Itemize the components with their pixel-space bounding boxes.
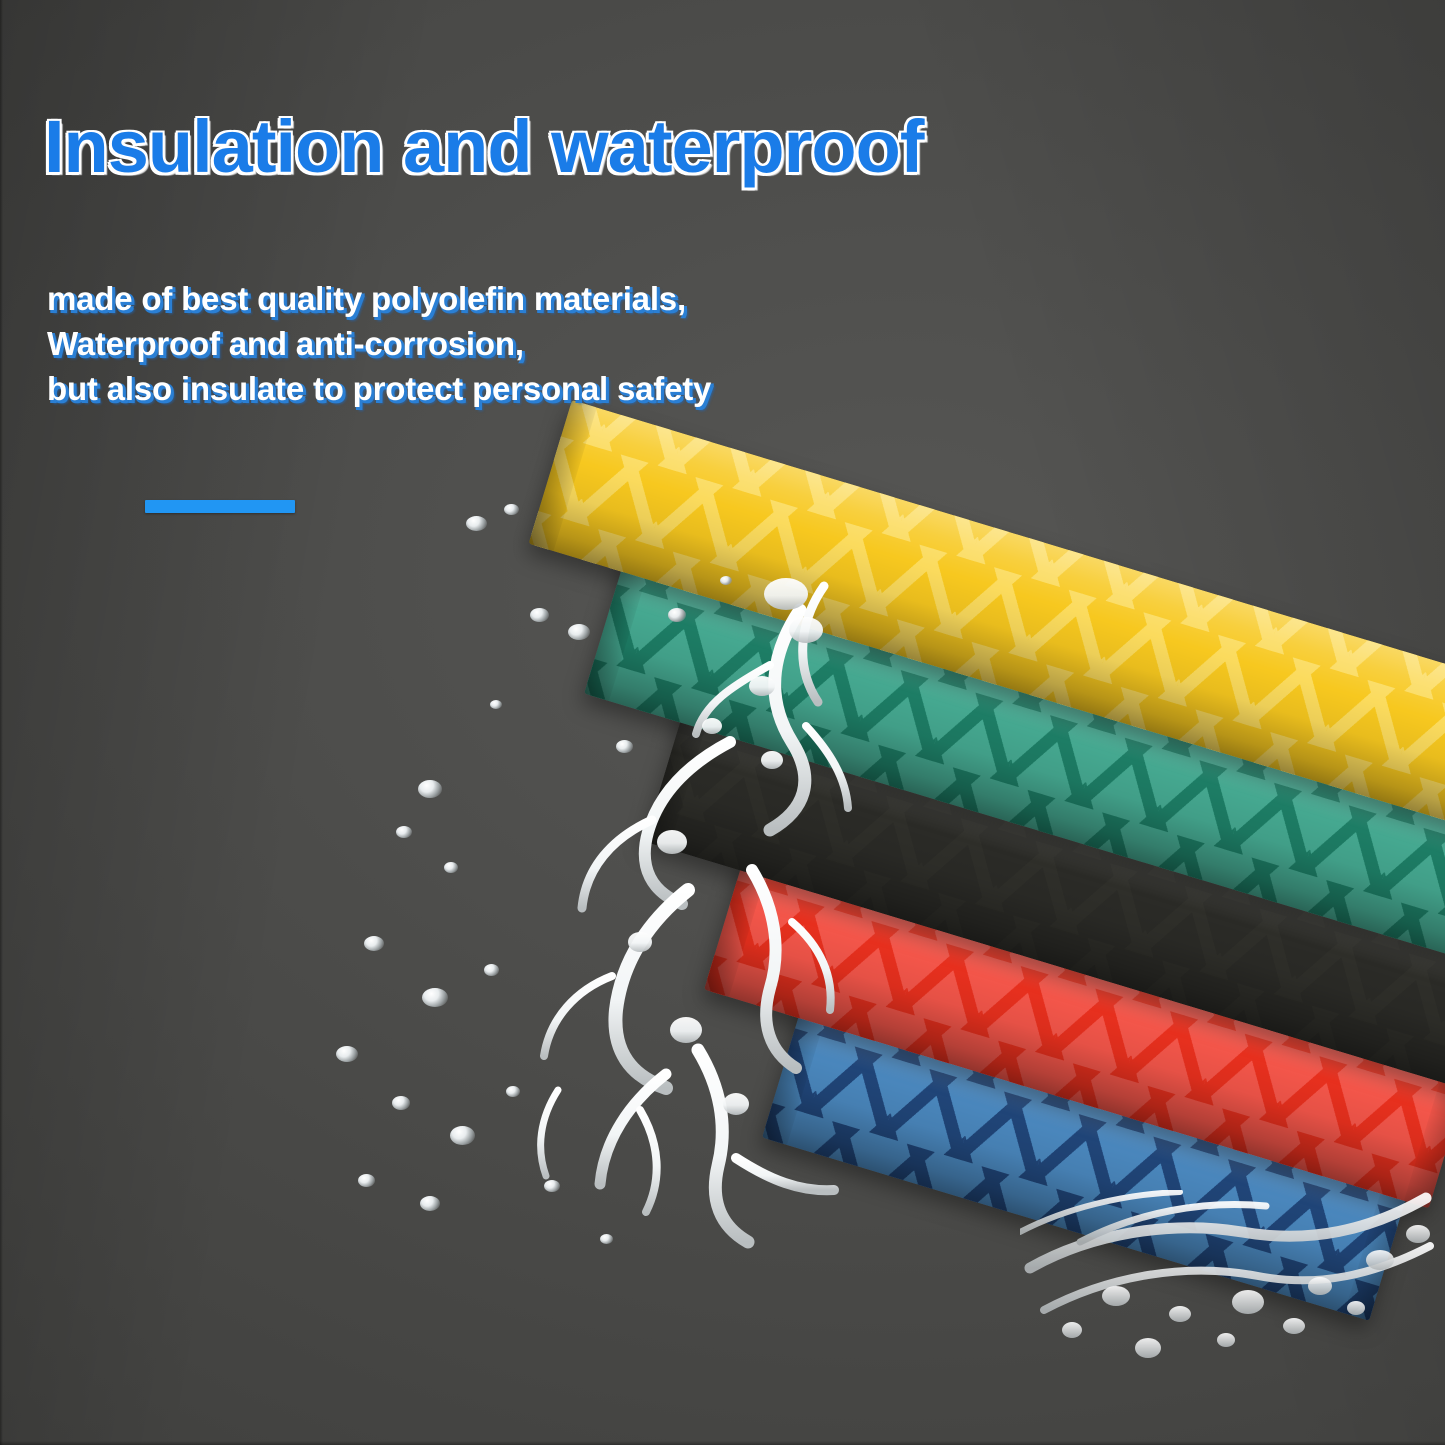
water-droplet xyxy=(444,862,458,873)
description-line: but also insulate to protect personal sa… xyxy=(47,366,711,411)
water-droplet xyxy=(392,1096,410,1110)
water-droplet xyxy=(422,988,448,1007)
description-block: made of best quality polyolefin material… xyxy=(47,276,711,411)
water-droplet xyxy=(420,1196,440,1211)
heat-shrink-tube-bundle xyxy=(500,400,1445,1300)
water-droplet xyxy=(450,1126,475,1145)
water-droplet xyxy=(396,826,412,838)
water-droplet xyxy=(466,516,487,531)
product-banner: Insulation and waterproof made of best q… xyxy=(0,0,1445,1445)
accent-divider-bar xyxy=(145,500,295,513)
water-droplet xyxy=(364,936,384,951)
water-droplet xyxy=(484,964,499,976)
water-droplet xyxy=(358,1174,375,1187)
description-line: Waterproof and anti-corrosion, xyxy=(47,321,711,366)
water-droplet xyxy=(418,780,442,798)
description-line: made of best quality polyolefin material… xyxy=(47,276,711,321)
page-title: Insulation and waterproof xyxy=(44,104,923,189)
water-droplet xyxy=(336,1046,358,1062)
